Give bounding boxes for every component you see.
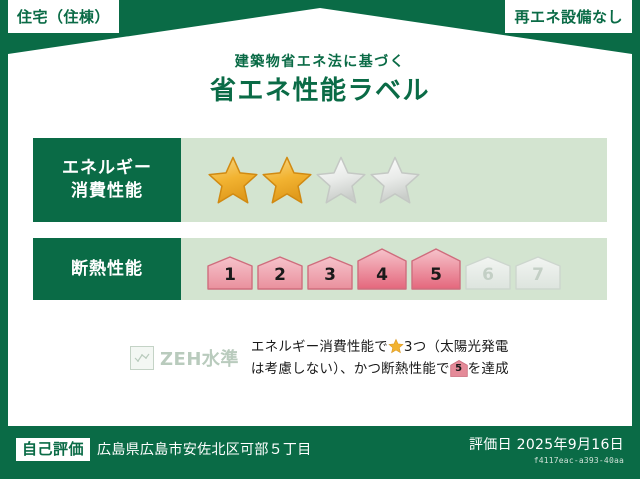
zeh-mark-label: ZEH水準 — [160, 345, 239, 371]
zeh-desc-line1-a: エネルギー消費性能で — [251, 339, 388, 355]
zeh-desc-line1-b: 3つ（太陽光発電 — [404, 339, 509, 355]
energy-performance-label: 住宅（住棟） 再エネ設備なし 建築物省エネ法に基づく 省エネ性能ラベル エネルギ… — [0, 0, 640, 479]
insulation-performance-label-cell: 断熱性能 — [33, 238, 181, 300]
insulation-grade-house: 2 — [257, 256, 303, 290]
inline-house-icon: 5 — [450, 360, 468, 377]
self-evaluation-badge: 自己評価 — [16, 438, 90, 461]
star-rating — [207, 154, 421, 206]
insulation-grade-house: 3 — [307, 256, 353, 290]
insulation-label-line1: 断熱性能 — [71, 258, 143, 281]
insulation-grade-house: 5 — [411, 248, 461, 290]
insulation-grade-scale: 1234567 — [207, 248, 561, 290]
page-title: 建築物省エネ法に基づく 省エネ性能ラベル — [0, 55, 640, 109]
insulation-grade-house: 1 — [207, 256, 253, 290]
label-footer: 自己評価 広島県広島市安佐北区可部５丁目 評価日 2025年9月16日 f411… — [0, 426, 640, 479]
badge-renewable-energy-text: 再エネ設備なし — [514, 6, 623, 27]
inline-star-icon — [388, 338, 404, 354]
zeh-check-icon — [130, 346, 154, 370]
star-empty-icon — [369, 154, 421, 206]
zeh-description-line1: エネルギー消費性能で 3つ（太陽光発電 — [251, 336, 509, 358]
badge-building-type: 住宅（住棟） — [8, 0, 119, 33]
insulation-grade-house: 4 — [357, 248, 407, 290]
energy-performance-row: エネルギー 消費性能 — [33, 138, 607, 222]
badge-renewable-energy: 再エネ設備なし — [505, 0, 632, 33]
zeh-standard-section: ZEH水準 エネルギー消費性能で 3つ（太陽光発電 は考慮しない）、かつ断熱性能… — [130, 336, 509, 381]
star-filled-icon — [261, 154, 313, 206]
insulation-performance-value: 1234567 — [181, 238, 607, 300]
footer-right-group: 評価日 2025年9月16日 f4117eac-a393-40aa — [469, 434, 624, 465]
star-empty-icon — [315, 154, 367, 206]
zeh-mark: ZEH水準 — [130, 345, 239, 371]
star-filled-icon — [207, 154, 259, 206]
energy-performance-value — [181, 138, 607, 222]
energy-label-line1: エネルギー — [62, 157, 152, 180]
badge-building-type-text: 住宅（住棟） — [17, 6, 110, 27]
page-subtitle: 建築物省エネ法に基づく — [0, 55, 640, 70]
zeh-desc-line2-a: は考慮しない）、かつ断熱性能で — [251, 361, 450, 377]
insulation-performance-row: 断熱性能 1234567 — [33, 238, 607, 300]
page-main-title: 省エネ性能ラベル — [0, 74, 640, 109]
inline-house-grade: 5 — [450, 361, 468, 378]
insulation-grade-house: 7 — [515, 256, 561, 290]
evaluation-date: 評価日 2025年9月16日 — [469, 434, 624, 454]
energy-label-line2: 消費性能 — [71, 180, 143, 203]
footer-left-group: 自己評価 広島県広島市安佐北区可部５丁目 — [16, 438, 312, 461]
zeh-description-line2: は考慮しない）、かつ断熱性能で 5 を達成 — [251, 358, 509, 380]
energy-performance-label-cell: エネルギー 消費性能 — [33, 138, 181, 222]
property-address: 広島県広島市安佐北区可部５丁目 — [97, 439, 312, 459]
zeh-description: エネルギー消費性能で 3つ（太陽光発電 は考慮しない）、かつ断熱性能で 5 を達… — [251, 336, 509, 381]
evaluation-id: f4117eac-a393-40aa — [469, 456, 624, 465]
zeh-desc-line2-b: を達成 — [468, 361, 509, 377]
insulation-grade-house: 6 — [465, 256, 511, 290]
